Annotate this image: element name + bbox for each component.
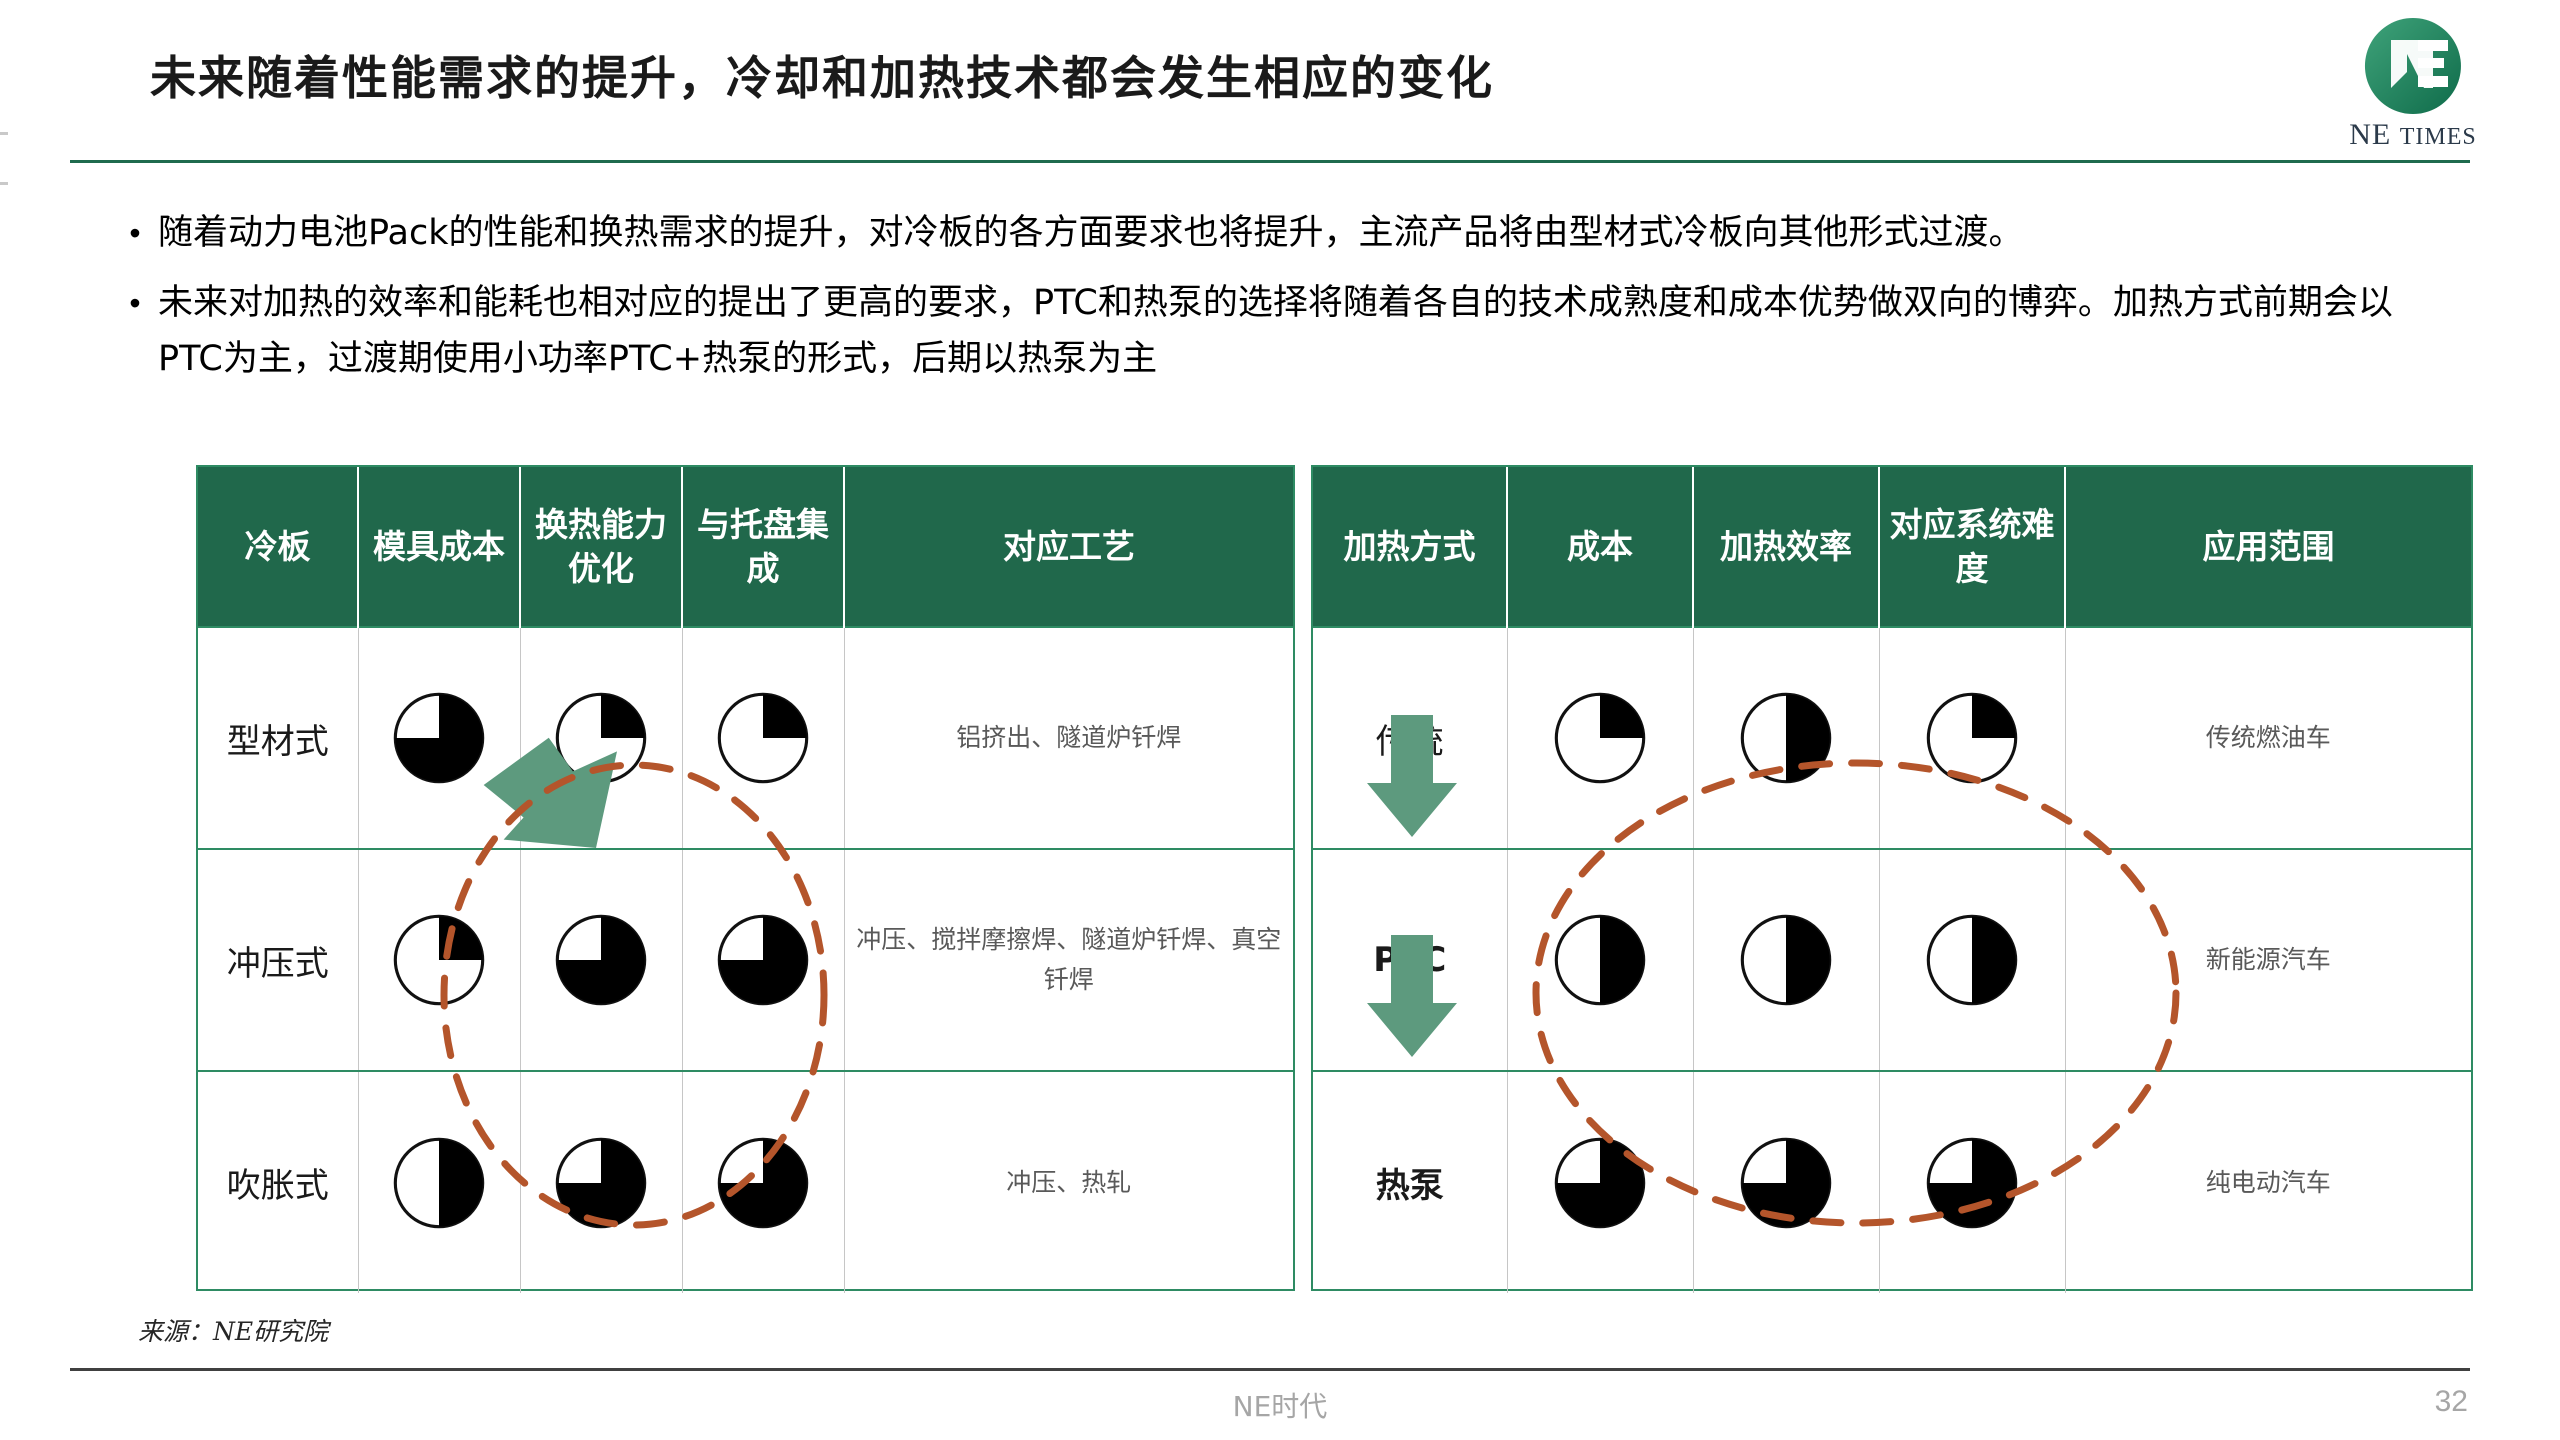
rating-cell	[1693, 1071, 1879, 1293]
process-text: 纯电动汽车	[2065, 1071, 2471, 1293]
harvey-ball-icon	[1888, 854, 2057, 1066]
footer-divider	[70, 1368, 2470, 1371]
rating-cell	[358, 1071, 520, 1293]
harvey-ball-icon	[529, 854, 674, 1066]
rating-cell	[1879, 849, 2065, 1071]
harvey-ball-icon	[367, 854, 512, 1066]
rating-cell	[1693, 627, 1879, 849]
page-title: 未来随着性能需求的提升，冷却和加热技术都会发生相应的变化	[150, 42, 2130, 108]
col-header-mold-cost: 模具成本	[358, 467, 520, 627]
process-text: 冲压、热轧	[844, 1071, 1293, 1293]
brand-logo: NE TIMES	[2308, 14, 2518, 164]
bullet-text-2: 未来对加热的效率和能耗也相对应的提出了更高的要求，PTC和热泵的选择将随着各自的…	[158, 275, 2428, 387]
rating-cell	[520, 627, 682, 849]
footer-brand: NE时代	[0, 1385, 2560, 1425]
col-header-system-difficulty: 对应系统难度	[1879, 467, 2065, 627]
logo-times: TIMES	[2400, 124, 2477, 150]
bullet-marker-icon: •	[112, 275, 158, 331]
bullet-item-1: • 随着动力电池Pack的性能和换热需求的提升，对冷板的各方面要求也将提升，主流…	[112, 205, 2462, 261]
rating-cell	[682, 849, 844, 1071]
harvey-ball-icon	[1516, 632, 1685, 844]
table-row: 传统 传统燃油车	[1313, 627, 2471, 849]
ne-circle-icon	[2361, 14, 2465, 118]
harvey-ball-icon	[1702, 854, 1871, 1066]
harvey-ball-icon	[367, 632, 512, 844]
harvey-ball-icon	[691, 854, 836, 1066]
harvey-ball-icon	[1516, 854, 1685, 1066]
logo-ne: NE	[2349, 118, 2391, 151]
harvey-ball-icon	[1702, 1076, 1871, 1289]
table-row: 热泵 纯电动汽车	[1313, 1071, 2471, 1293]
col-header-cold-plate: 冷板	[198, 467, 358, 627]
col-header-heating-method: 加热方式	[1313, 467, 1507, 627]
row-label: PTC	[1313, 849, 1507, 1071]
bullet-marker-icon: •	[112, 205, 158, 261]
bullet-list: • 随着动力电池Pack的性能和换热需求的提升，对冷板的各方面要求也将提升，主流…	[112, 205, 2462, 401]
table-row: PTC 新能源汽车	[1313, 849, 2471, 1071]
rating-cell	[520, 1071, 682, 1293]
rating-cell	[1507, 1071, 1693, 1293]
rating-cell	[358, 849, 520, 1071]
col-header-heat-exchange: 换热能力优化	[520, 467, 682, 627]
rating-cell	[1879, 1071, 2065, 1293]
bullet-text-1: 随着动力电池Pack的性能和换热需求的提升，对冷板的各方面要求也将提升，主流产品…	[158, 205, 2024, 261]
heating-method-table: 加热方式 成本 加热效率 对应系统难度 应用范围 传统 传统燃油车 PTC 新能…	[1311, 465, 2473, 1291]
table-row: 冲压式 冲压、搅拌摩擦焊、隧道炉钎焊、真空钎焊	[198, 849, 1293, 1071]
col-header-tray-integration: 与托盘集成	[682, 467, 844, 627]
rating-cell	[1693, 849, 1879, 1071]
rating-cell	[1879, 627, 2065, 849]
table-row: 型材式 铝挤出、隧道炉钎焊	[198, 627, 1293, 849]
source-note: 来源：NE研究院	[138, 1312, 328, 1348]
col-header-heating-efficiency: 加热效率	[1693, 467, 1879, 627]
col-header-process: 对应工艺	[844, 467, 1293, 627]
harvey-ball-icon	[1702, 632, 1871, 844]
harvey-ball-icon	[1888, 632, 2057, 844]
bullet-item-2: • 未来对加热的效率和能耗也相对应的提出了更高的要求，PTC和热泵的选择将随着各…	[112, 275, 2462, 387]
harvey-ball-icon	[1888, 1076, 2057, 1289]
harvey-ball-icon	[691, 632, 836, 844]
rating-cell	[682, 1071, 844, 1293]
logo-wordmark: NE TIMES	[2349, 118, 2477, 152]
process-text: 新能源汽车	[2065, 849, 2471, 1071]
cold-plate-table: 冷板 模具成本 换热能力优化 与托盘集成 对应工艺 型材式 铝挤出、隧道炉钎焊 …	[196, 465, 1295, 1291]
harvey-ball-icon	[529, 632, 674, 844]
col-header-application-range: 应用范围	[2065, 467, 2471, 627]
row-label: 传统	[1313, 627, 1507, 849]
col-header-cost: 成本	[1507, 467, 1693, 627]
edge-tick-bottom	[0, 182, 8, 185]
rating-cell	[1507, 849, 1693, 1071]
rating-cell	[1507, 627, 1693, 849]
harvey-ball-icon	[367, 1076, 512, 1289]
process-text: 铝挤出、隧道炉钎焊	[844, 627, 1293, 849]
row-label: 热泵	[1313, 1071, 1507, 1293]
table-header-row: 冷板 模具成本 换热能力优化 与托盘集成 对应工艺	[198, 467, 1293, 627]
row-label: 型材式	[198, 627, 358, 849]
rating-cell	[358, 627, 520, 849]
rating-cell	[682, 627, 844, 849]
edge-tick-top	[0, 132, 8, 135]
table-row: 吹胀式 冲压、热轧	[198, 1071, 1293, 1293]
harvey-ball-icon	[691, 1076, 836, 1289]
process-text: 冲压、搅拌摩擦焊、隧道炉钎焊、真空钎焊	[844, 849, 1293, 1071]
harvey-ball-icon	[529, 1076, 674, 1289]
rating-cell	[520, 849, 682, 1071]
table-header-row: 加热方式 成本 加热效率 对应系统难度 应用范围	[1313, 467, 2471, 627]
row-label: 吹胀式	[198, 1071, 358, 1293]
title-divider	[70, 160, 2470, 163]
harvey-ball-icon	[1516, 1076, 1685, 1289]
page-number: 32	[2435, 1385, 2468, 1419]
row-label: 冲压式	[198, 849, 358, 1071]
process-text: 传统燃油车	[2065, 627, 2471, 849]
